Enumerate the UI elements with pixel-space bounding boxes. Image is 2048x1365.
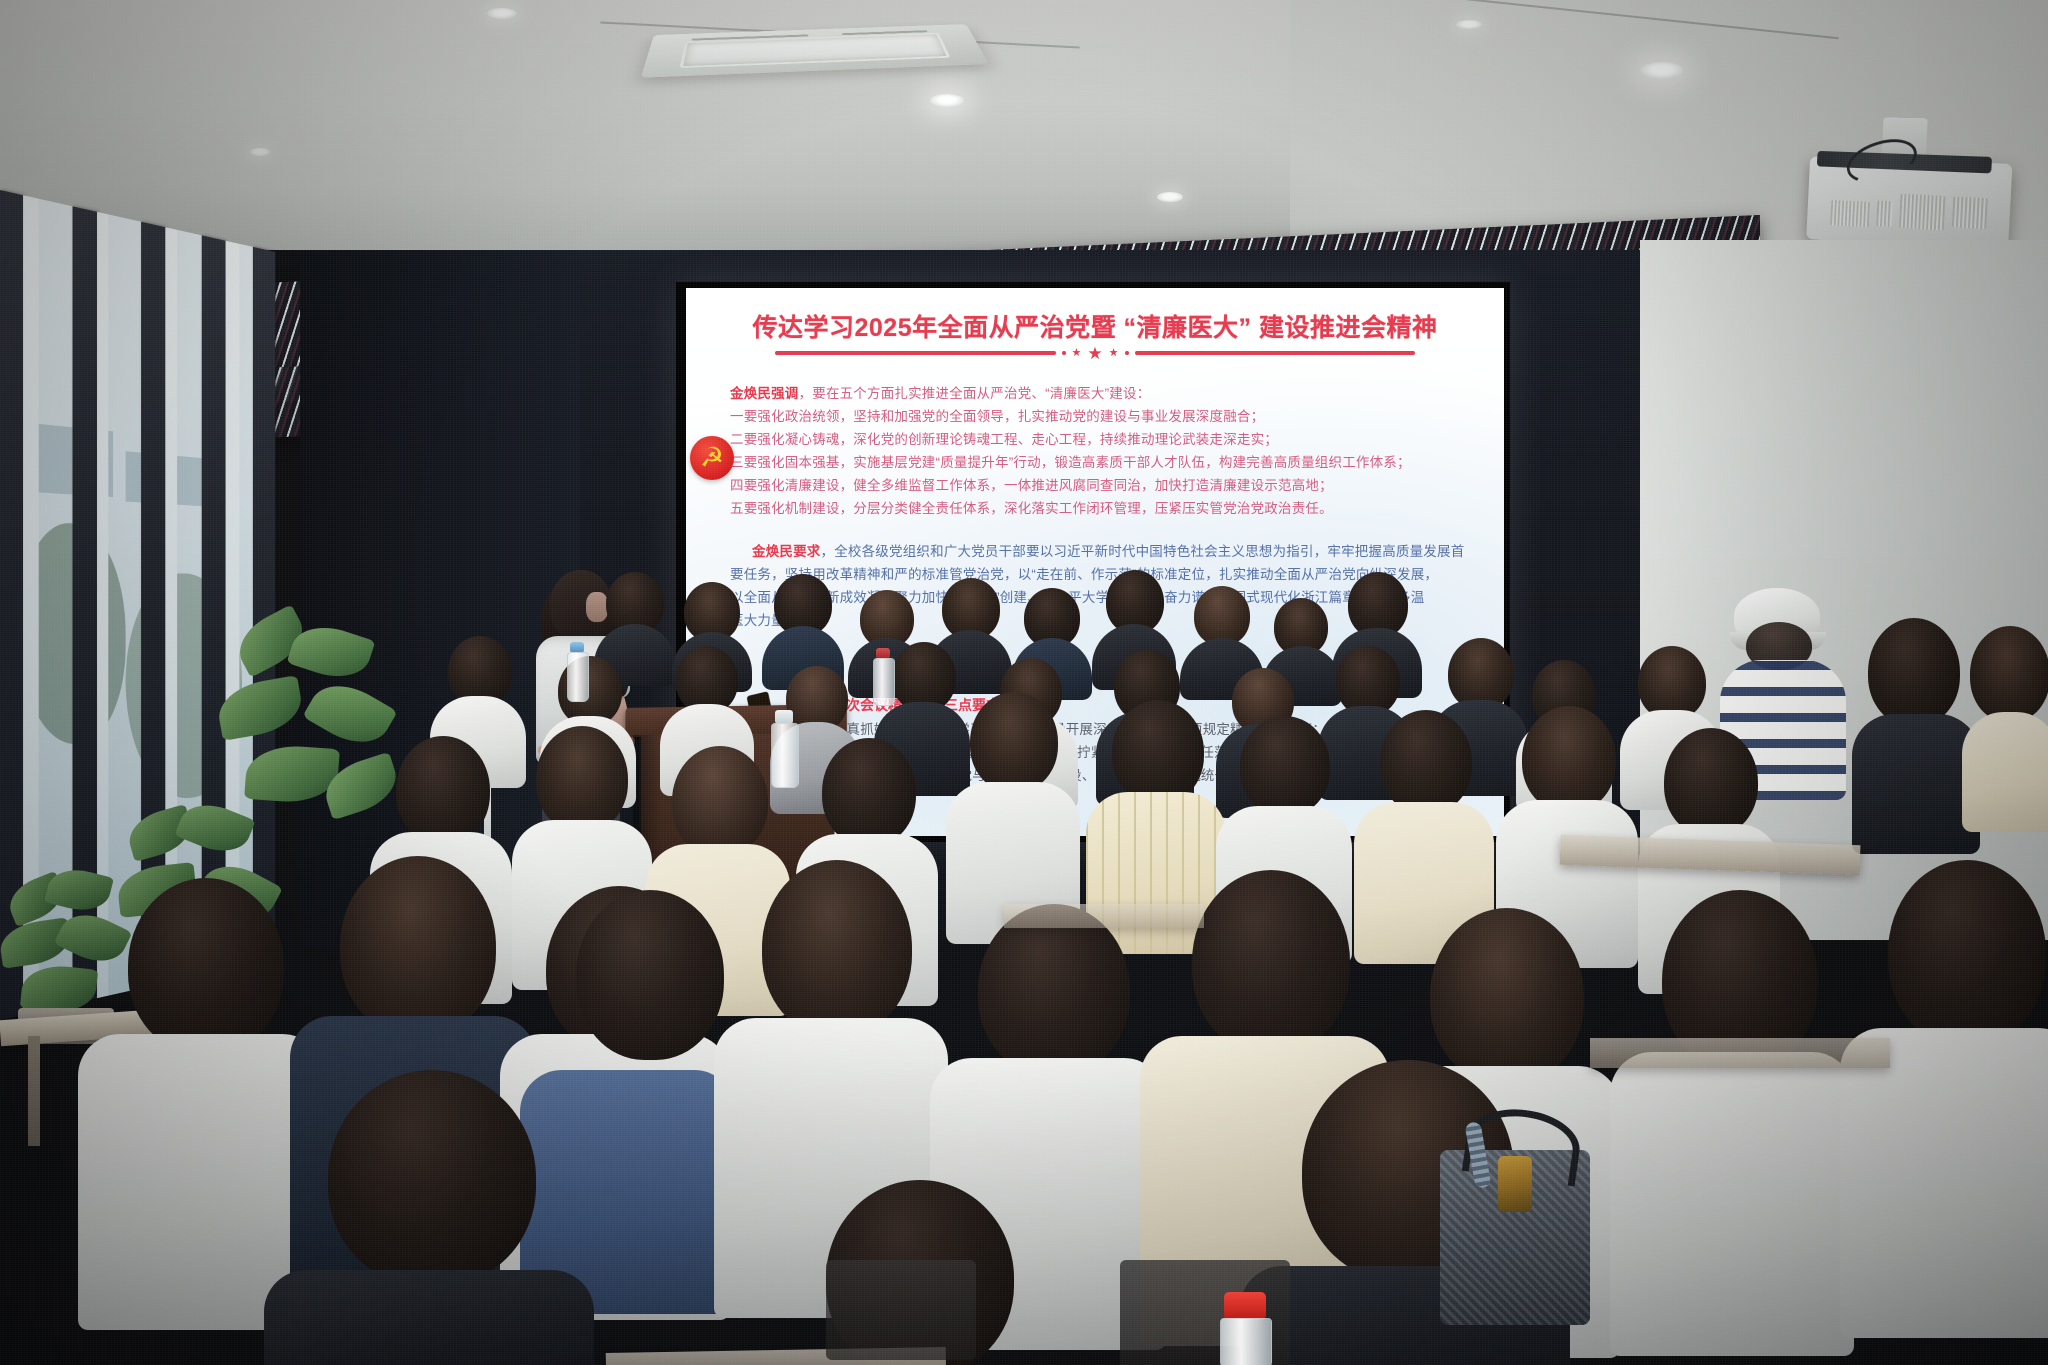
projector-grill [1876,201,1892,228]
person-head [978,904,1130,1076]
person-head [396,736,490,844]
projector [1806,156,2012,253]
person-head [1194,586,1250,646]
bottle-body [873,658,895,706]
bottle-body [771,723,799,788]
person-head [1112,700,1204,804]
party-emblem-icon: ☭ [690,436,734,480]
downlight [930,94,964,107]
person-body [1852,714,1980,854]
audience-person [1610,890,1854,1350]
divider-dot [1062,351,1066,355]
person-head [128,878,284,1054]
downlight [1456,20,1482,29]
section-one-point: 一要强化政治统领，坚持和加强党的全面领导，扎实推动党的建设与事业发展深度融合； [730,405,1478,428]
divider-star-small: ★ [1072,348,1082,359]
divider-line-right [1135,351,1416,355]
person-head [970,692,1058,792]
person-head [328,1070,536,1286]
section-one-point: 三要强化固本强基，实施基层党建“质量提升年”行动，锻造高素质干部人才队伍，构建完… [730,451,1478,474]
section-one-intro-text: ，要在五个方面扎实推进全面从严治党、“清廉医大”建设： [799,386,1151,401]
projector-grill [1899,194,1946,231]
audience [0,560,2048,1365]
water-bottle [770,710,798,786]
bottle-body [1220,1318,1272,1365]
person-head [1638,646,1706,720]
downlight [1157,192,1183,202]
person-head [1430,908,1584,1084]
section-one-point: 五要强化机制建设，分层分类健全责任体系，深化落实工作闭环管理，压紧压实管党治党政… [730,497,1478,520]
person-body [1610,1052,1854,1356]
audience-person [1852,618,1980,848]
person-body [1962,712,2048,832]
section-one-point: 四要强化清廉建设，健全多维监督工作体系，一体推进风腐同查同治，加快打造清廉建设示… [730,474,1478,497]
bottle-cap [775,710,793,724]
audience-person [1962,626,2048,826]
desk-surface [1004,904,1204,928]
projector-grill [1830,200,1870,228]
section-one-lead: 金焕民强调 [730,386,799,401]
downlight [1640,62,1684,79]
person-head [1888,860,2046,1046]
section-two-line-text: ，全校各级党组织和广大党员干部要以习近平新时代中国特色社会主义思想为指引，牢牢把… [821,544,1465,559]
section-one-intro: 金焕民强调，要在五个方面扎实推进全面从严治党、“清廉医大”建设： [730,382,1478,405]
bottle-body [567,652,589,702]
bottle-cap [1224,1292,1266,1320]
person-head [762,860,912,1036]
person-head [1522,706,1616,812]
audience-person-foreground [264,1070,594,1365]
slide-title: 传达学习2025年全面从严治党暨 “清廉医大” 建设推进会精神 [702,308,1487,344]
person-head [1868,618,1960,726]
person-head [672,746,768,856]
person-head [1970,626,2048,722]
divider-star-large: ★ [1087,345,1102,362]
person-body [264,1270,594,1365]
divider-dot [1125,351,1129,355]
person-head [1192,870,1350,1054]
downlight [487,8,517,19]
downlight [250,148,270,156]
bag-charm [1498,1156,1532,1212]
person-body [1840,1028,2048,1338]
chair-back [826,1260,976,1360]
hammer-sickle-glyph: ☭ [700,445,724,472]
person-head [340,856,496,1036]
divider-star-small: ★ [1109,348,1119,359]
person-head [1240,716,1330,816]
section-one-point: 二要强化凝心铸魂，深化党的创新理论铸魂工程、走心工程，持续推动理论武装走深走实； [730,428,1478,451]
person-head [822,738,916,846]
person-head [1380,710,1472,814]
desk-surface [1590,1038,1890,1068]
slide-section-one: 金焕民强调，要在五个方面扎实推进全面从严治党、“清廉医大”建设： 一要强化政治统… [730,382,1478,520]
presentation-photo-scene: 传达学习2025年全面从严治党暨 “清廉医大” 建设推进会精神 ★ ★ ★ 金焕… [0,0,2048,1365]
divider-line-left [775,351,1056,355]
handbag [1440,1110,1630,1325]
projector-grill [1952,196,1988,229]
water-bottle [566,642,588,700]
audience-person [1840,860,2048,1330]
section-two-lead: 金焕民要求 [752,544,821,559]
person-head [576,890,724,1060]
person-head [1664,728,1758,836]
water-bottle-foreground [1218,1292,1274,1365]
audience-person [946,692,1080,940]
title-divider: ★ ★ ★ [775,344,1415,362]
water-bottle [872,648,894,704]
person-head [536,726,628,832]
